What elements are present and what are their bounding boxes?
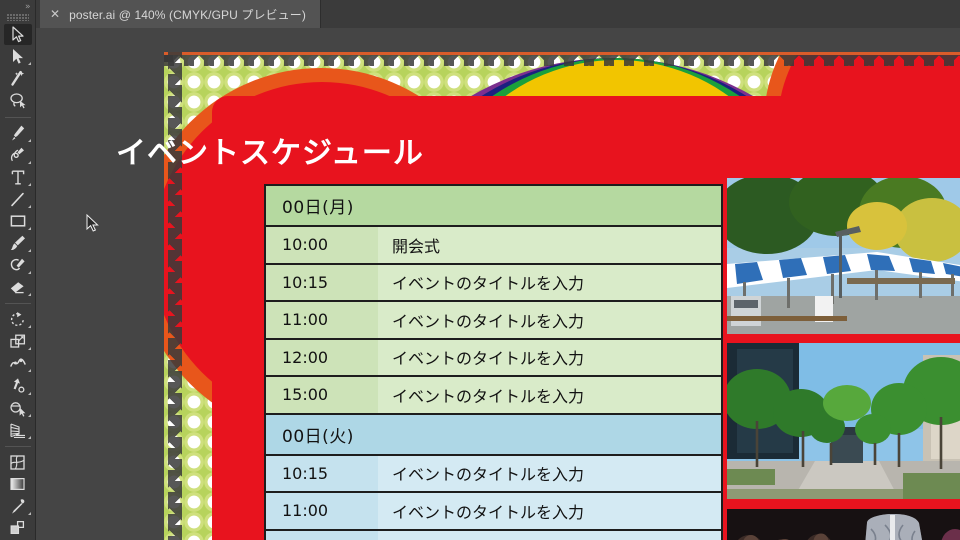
schedule-event-title: イベントのタイトルを入力 <box>378 456 721 492</box>
curvature-tool[interactable] <box>4 145 32 166</box>
pen-tool[interactable] <box>4 122 32 143</box>
schedule-time: 11:00 <box>266 302 378 338</box>
magic-wand-tool[interactable] <box>4 68 32 89</box>
schedule-event-title: イベントのタイトルを入力 <box>378 340 721 376</box>
perspective-grid-tool[interactable] <box>4 420 32 441</box>
close-icon[interactable]: ✕ <box>50 8 60 20</box>
paintbrush-tool[interactable] <box>4 233 32 254</box>
width-tool[interactable] <box>4 353 32 374</box>
schedule-row[interactable]: 10:15イベントのタイトルを入力 <box>266 456 721 494</box>
flyout-indicator-icon <box>28 249 31 252</box>
schedule-day-header[interactable]: 00日(火) <box>266 415 721 456</box>
flyout-indicator-icon <box>28 293 31 296</box>
lasso-tool[interactable] <box>4 90 32 111</box>
photo-tree-lined-path[interactable] <box>727 343 960 499</box>
gradient-tool[interactable] <box>4 474 32 495</box>
rectangle-tool[interactable] <box>4 211 32 232</box>
document-tab-poster-ai[interactable]: ✕ poster.ai @ 140% (CMYK/GPU プレビュー) <box>40 0 321 28</box>
line-segment-tool[interactable] <box>4 189 32 210</box>
shape-builder-tool[interactable] <box>4 398 32 419</box>
flyout-indicator-icon <box>28 392 31 395</box>
document-tab-bar: ✕ poster.ai @ 140% (CMYK/GPU プレビュー) <box>0 0 960 28</box>
tool-group-divider <box>5 117 31 118</box>
schedule-row[interactable]: 10:00開会式 <box>266 227 721 265</box>
flyout-indicator-icon <box>28 512 31 515</box>
document-canvas[interactable]: イベントスケジュール 00日(月)10:00開会式10:15イベントのタイトルを… <box>36 28 960 540</box>
tool-group-divider <box>5 446 31 447</box>
rotate-tool[interactable] <box>4 309 32 330</box>
mesh-tool[interactable] <box>4 452 32 473</box>
flyout-indicator-icon <box>28 62 31 65</box>
eraser-tool[interactable] <box>4 277 32 298</box>
chevron-double-right-icon[interactable]: » <box>0 0 36 14</box>
schedule-row[interactable]: 11:00イベントのタイトルを入力 <box>266 493 721 531</box>
schedule-event-title: イベントのタイトルを入力 <box>378 531 721 540</box>
direct-selection-tool[interactable] <box>4 46 32 67</box>
schedule-time: 12:00 <box>266 531 378 540</box>
document-tab-label: poster.ai @ 140% (CMYK/GPU プレビュー) <box>69 6 306 23</box>
flyout-indicator-icon <box>28 183 31 186</box>
flyout-indicator-icon <box>28 347 31 350</box>
schedule-event-title: イベントのタイトルを入力 <box>378 377 721 413</box>
schedule-day-header[interactable]: 00日(月) <box>266 186 721 227</box>
tool-group-divider <box>5 303 31 304</box>
schedule-day-label: 00日(月) <box>266 186 721 225</box>
tools-panel: » <box>0 0 36 540</box>
shaper-tool[interactable] <box>4 255 32 276</box>
schedule-event-title: イベントのタイトルを入力 <box>378 493 721 529</box>
schedule-time: 12:00 <box>266 340 378 376</box>
panel-drag-handle[interactable] <box>7 14 29 22</box>
schedule-time: 11:00 <box>266 493 378 529</box>
poster-title: イベントスケジュール <box>116 128 424 172</box>
flyout-indicator-icon <box>28 227 31 230</box>
bunting-decoration-left <box>168 52 182 540</box>
free-transform-tool[interactable] <box>4 375 32 396</box>
schedule-time: 10:00 <box>266 227 378 263</box>
schedule-event-title: 開会式 <box>378 227 721 263</box>
schedule-row[interactable]: 12:00イベントのタイトルを入力 <box>266 531 721 540</box>
eyedropper-tool[interactable] <box>4 496 32 517</box>
flyout-indicator-icon <box>28 325 31 328</box>
flyout-indicator-icon <box>28 414 31 417</box>
selection-tool[interactable] <box>4 24 32 45</box>
schedule-time: 10:15 <box>266 265 378 301</box>
schedule-time: 15:00 <box>266 377 378 413</box>
schedule-time: 10:15 <box>266 456 378 492</box>
schedule-row[interactable]: 15:00イベントのタイトルを入力 <box>266 377 721 415</box>
bunting-decoration-top <box>164 52 960 68</box>
schedule-table[interactable]: 00日(月)10:00開会式10:15イベントのタイトルを入力11:00イベント… <box>264 184 723 540</box>
photo-festival-tents[interactable] <box>727 178 960 334</box>
mouse-cursor <box>86 214 99 233</box>
flyout-indicator-icon <box>28 205 31 208</box>
type-tool[interactable] <box>4 167 32 188</box>
flyout-indicator-icon <box>28 139 31 142</box>
schedule-row[interactable]: 10:15イベントのタイトルを入力 <box>266 265 721 303</box>
flyout-indicator-icon <box>28 436 31 439</box>
photo-stage-audience[interactable] <box>727 509 960 540</box>
flyout-indicator-icon <box>28 161 31 164</box>
scale-tool[interactable] <box>4 331 32 352</box>
schedule-row[interactable]: 11:00イベントのタイトルを入力 <box>266 302 721 340</box>
flyout-indicator-icon <box>28 271 31 274</box>
flyout-indicator-icon <box>28 369 31 372</box>
illustrator-window: ✕ poster.ai @ 140% (CMYK/GPU プレビュー) » <box>0 0 960 540</box>
schedule-day-label: 00日(火) <box>266 415 721 454</box>
blend-tool[interactable] <box>4 518 32 539</box>
schedule-event-title: イベントのタイトルを入力 <box>378 302 721 338</box>
schedule-row[interactable]: 12:00イベントのタイトルを入力 <box>266 340 721 378</box>
schedule-event-title: イベントのタイトルを入力 <box>378 265 721 301</box>
